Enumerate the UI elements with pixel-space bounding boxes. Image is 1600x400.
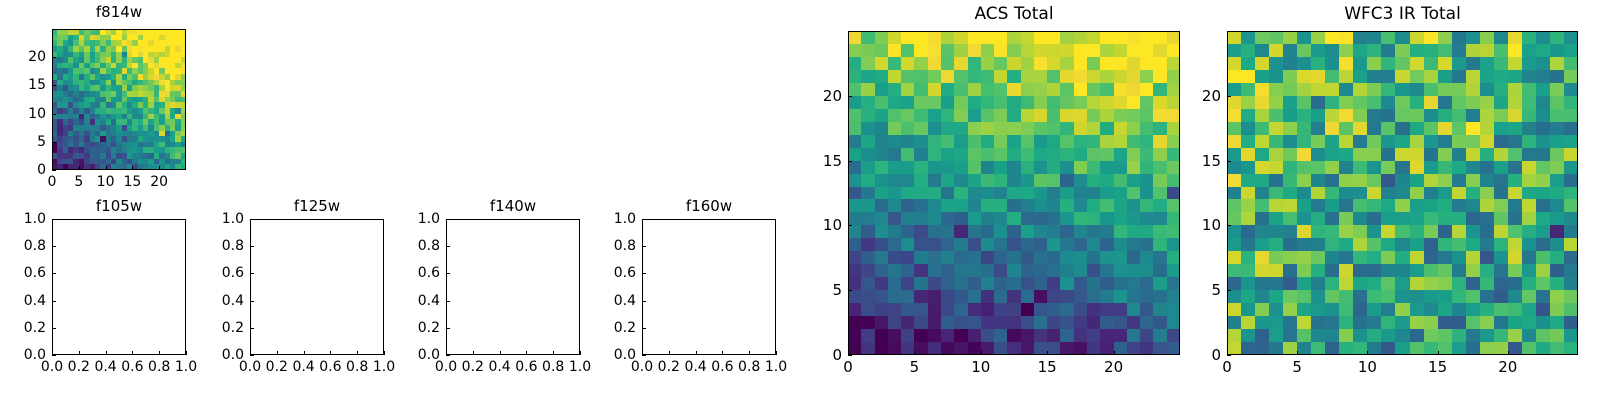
x-tick-mark bbox=[1438, 351, 1439, 355]
y-tick-label: 0.8 bbox=[558, 239, 636, 253]
x-tick-mark bbox=[277, 351, 278, 355]
y-tick-mark bbox=[52, 85, 56, 86]
x-tick-label: 5 bbox=[1257, 360, 1337, 375]
y-tick-label: 1.0 bbox=[0, 212, 46, 226]
y-tick-mark bbox=[52, 328, 56, 329]
x-tick-mark bbox=[722, 351, 723, 355]
y-tick-label: 0 bbox=[1143, 348, 1221, 363]
y-tick-mark bbox=[52, 246, 56, 247]
y-tick-mark bbox=[52, 219, 56, 220]
x-tick-mark bbox=[696, 351, 697, 355]
y-tick-mark bbox=[52, 273, 56, 274]
y-tick-label: 0.6 bbox=[362, 266, 440, 280]
x-tick-mark bbox=[132, 166, 133, 170]
y-tick-mark bbox=[848, 355, 852, 356]
y-tick-mark bbox=[848, 161, 852, 162]
y-tick-label: 0.0 bbox=[362, 348, 440, 362]
x-tick-mark bbox=[330, 351, 331, 355]
y-tick-label: 5 bbox=[0, 135, 46, 149]
x-tick-mark bbox=[106, 166, 107, 170]
y-tick-mark bbox=[1227, 355, 1231, 356]
axes-frame-f160w bbox=[642, 219, 776, 355]
y-tick-label: 0.0 bbox=[166, 348, 244, 362]
y-tick-label: 0.0 bbox=[0, 348, 46, 362]
y-tick-mark bbox=[52, 301, 56, 302]
y-tick-label: 0.4 bbox=[362, 294, 440, 308]
x-tick-mark bbox=[79, 166, 80, 170]
y-tick-mark bbox=[642, 273, 646, 274]
x-tick-mark bbox=[106, 351, 107, 355]
y-tick-label: 0.0 bbox=[558, 348, 636, 362]
y-tick-mark bbox=[250, 219, 254, 220]
y-tick-label: 0.8 bbox=[362, 239, 440, 253]
y-tick-mark bbox=[250, 246, 254, 247]
y-tick-label: 0.2 bbox=[558, 321, 636, 335]
y-tick-label: 1.0 bbox=[362, 212, 440, 226]
y-tick-mark bbox=[446, 246, 450, 247]
matplotlib-figure: f814w 0510152005101520 f105w 0.00.20.40.… bbox=[0, 0, 1600, 400]
y-tick-label: 20 bbox=[0, 50, 46, 64]
y-tick-label: 0.8 bbox=[166, 239, 244, 253]
y-tick-label: 10 bbox=[764, 218, 842, 233]
y-tick-label: 10 bbox=[0, 107, 46, 121]
y-tick-mark bbox=[848, 290, 852, 291]
y-tick-label: 0.8 bbox=[0, 239, 46, 253]
x-tick-mark bbox=[1367, 351, 1368, 355]
x-tick-label: 15 bbox=[1398, 360, 1478, 375]
x-tick-mark bbox=[159, 166, 160, 170]
y-tick-mark bbox=[1227, 96, 1231, 97]
x-tick-mark bbox=[749, 351, 750, 355]
x-tick-mark bbox=[1114, 351, 1115, 355]
y-tick-mark bbox=[446, 219, 450, 220]
x-tick-mark bbox=[1508, 351, 1509, 355]
x-tick-label: 20 bbox=[1468, 360, 1548, 375]
y-tick-mark bbox=[642, 246, 646, 247]
y-tick-mark bbox=[52, 355, 56, 356]
x-tick-mark bbox=[304, 351, 305, 355]
y-tick-label: 0.2 bbox=[362, 321, 440, 335]
x-tick-mark bbox=[981, 351, 982, 355]
y-tick-label: 20 bbox=[1143, 89, 1221, 104]
y-tick-mark bbox=[642, 355, 646, 356]
y-tick-label: 20 bbox=[764, 89, 842, 104]
y-tick-mark bbox=[446, 301, 450, 302]
panel-title-wfc3-ir-total: WFC3 IR Total bbox=[1227, 6, 1578, 23]
y-tick-label: 1.0 bbox=[166, 212, 244, 226]
panel-title-f814w: f814w bbox=[52, 5, 186, 20]
x-tick-mark bbox=[669, 351, 670, 355]
x-tick-mark bbox=[500, 351, 501, 355]
y-tick-label: 0.6 bbox=[558, 266, 636, 280]
y-tick-mark bbox=[848, 96, 852, 97]
y-tick-label: 0.2 bbox=[0, 321, 46, 335]
x-tick-mark bbox=[473, 351, 474, 355]
x-tick-mark bbox=[357, 351, 358, 355]
y-tick-label: 0.6 bbox=[166, 266, 244, 280]
y-tick-mark bbox=[642, 328, 646, 329]
y-tick-mark bbox=[446, 355, 450, 356]
x-tick-label: 20 bbox=[119, 175, 199, 189]
y-tick-label: 15 bbox=[1143, 154, 1221, 169]
x-tick-label: 20 bbox=[1074, 360, 1154, 375]
x-tick-mark bbox=[159, 351, 160, 355]
y-tick-label: 0 bbox=[0, 163, 46, 177]
y-tick-mark bbox=[446, 273, 450, 274]
y-tick-mark bbox=[250, 328, 254, 329]
y-tick-mark bbox=[52, 142, 56, 143]
y-tick-mark bbox=[52, 170, 56, 171]
axes-frame-f814w bbox=[52, 29, 186, 170]
y-tick-mark bbox=[642, 301, 646, 302]
x-tick-mark bbox=[1047, 351, 1048, 355]
y-tick-mark bbox=[250, 273, 254, 274]
x-tick-label: 10 bbox=[1327, 360, 1407, 375]
panel-title-f160w: f160w bbox=[642, 199, 776, 214]
y-tick-mark bbox=[1227, 225, 1231, 226]
x-tick-mark bbox=[553, 351, 554, 355]
axes-frame-wfc3-ir-total bbox=[1227, 31, 1578, 355]
y-tick-label: 0 bbox=[764, 348, 842, 363]
y-tick-mark bbox=[250, 301, 254, 302]
panel-title-acs-total: ACS Total bbox=[848, 6, 1180, 23]
y-tick-mark bbox=[1227, 290, 1231, 291]
y-tick-mark bbox=[250, 355, 254, 356]
x-tick-mark bbox=[914, 351, 915, 355]
y-tick-mark bbox=[1227, 161, 1231, 162]
x-tick-mark bbox=[79, 351, 80, 355]
x-tick-mark bbox=[526, 351, 527, 355]
y-tick-label: 15 bbox=[0, 78, 46, 92]
y-tick-label: 0.4 bbox=[166, 294, 244, 308]
y-tick-label: 0.6 bbox=[0, 266, 46, 280]
y-tick-label: 5 bbox=[1143, 283, 1221, 298]
y-tick-mark bbox=[52, 114, 56, 115]
y-tick-label: 0.2 bbox=[166, 321, 244, 335]
y-tick-label: 1.0 bbox=[558, 212, 636, 226]
x-tick-mark bbox=[132, 351, 133, 355]
y-tick-mark bbox=[642, 219, 646, 220]
y-tick-label: 0.4 bbox=[0, 294, 46, 308]
y-tick-mark bbox=[446, 328, 450, 329]
y-tick-label: 10 bbox=[1143, 218, 1221, 233]
y-tick-mark bbox=[848, 225, 852, 226]
y-tick-label: 0.4 bbox=[558, 294, 636, 308]
y-tick-label: 5 bbox=[764, 283, 842, 298]
axes-frame-acs-total bbox=[848, 31, 1180, 355]
y-tick-mark bbox=[52, 57, 56, 58]
x-tick-mark bbox=[1297, 351, 1298, 355]
y-tick-label: 15 bbox=[764, 154, 842, 169]
